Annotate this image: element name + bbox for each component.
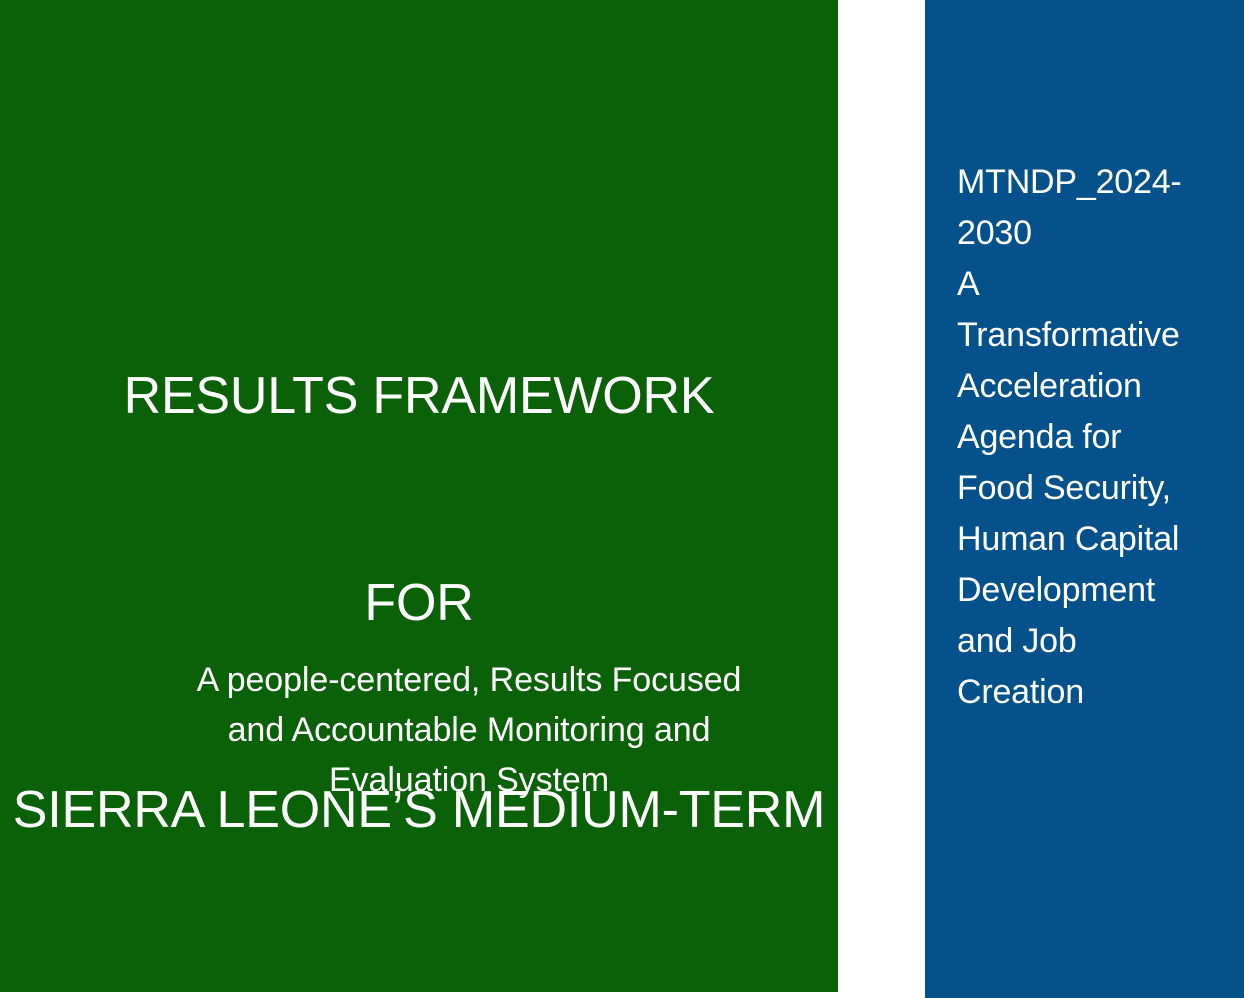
- cover-subtitle: A people-centered, Results Focused and A…: [119, 655, 819, 805]
- sidebar-caption-line-11: Creation: [957, 667, 1219, 718]
- cover-title-line-1: RESULTS FRAMEWORK: [0, 362, 838, 431]
- cover-subtitle-line-2: and Accountable Monitoring and: [119, 705, 819, 755]
- sidebar-caption-line-8: Human Capital: [957, 514, 1219, 565]
- sidebar-caption-line-6: Agenda for: [957, 412, 1219, 463]
- sidebar-caption-line-3: A: [957, 259, 1219, 310]
- green-cover-panel: RESULTS FRAMEWORK FOR SIERRA LEONE’S MED…: [0, 0, 838, 992]
- sidebar-caption: MTNDP_2024- 2030 A Transformative Accele…: [957, 157, 1219, 718]
- sidebar-caption-line-2: 2030: [957, 208, 1219, 259]
- sidebar-caption-line-5: Acceleration: [957, 361, 1219, 412]
- cover-subtitle-line-1: A people-centered, Results Focused: [119, 655, 819, 705]
- presentation-slide: RESULTS FRAMEWORK FOR SIERRA LEONE’S MED…: [0, 0, 1244, 998]
- sidebar-caption-line-1: MTNDP_2024-: [957, 157, 1219, 208]
- blue-sidebar-panel: MTNDP_2024- 2030 A Transformative Accele…: [925, 0, 1244, 998]
- sidebar-caption-line-9: Development: [957, 565, 1219, 616]
- sidebar-caption-line-10: and Job: [957, 616, 1219, 667]
- sidebar-caption-line-4: Transformative: [957, 310, 1219, 361]
- cover-subtitle-line-3: Evaluation System: [119, 755, 819, 805]
- cover-title-line-2: FOR: [0, 569, 838, 638]
- cover-title-line-4: NATIONAL DEVELOPMENT PLAN: [0, 983, 838, 992]
- cover-title: RESULTS FRAMEWORK FOR SIERRA LEONE’S MED…: [0, 224, 838, 992]
- sidebar-caption-line-7: Food Security,: [957, 463, 1219, 514]
